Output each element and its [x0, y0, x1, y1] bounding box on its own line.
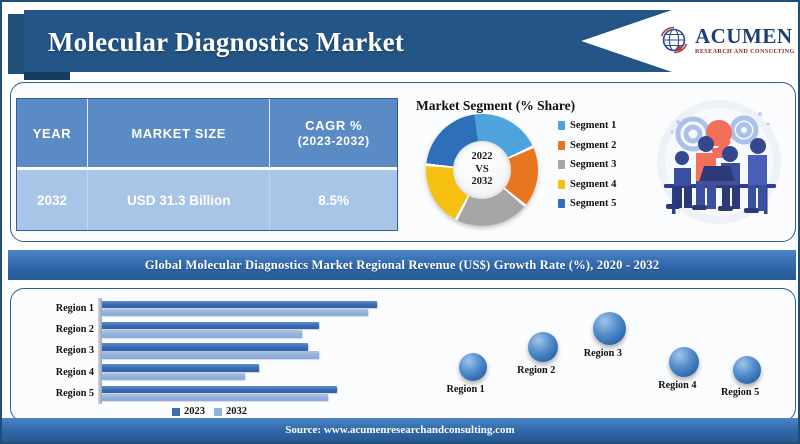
- legend-swatch-icon: [558, 160, 565, 169]
- bar-legend-item-2023: 2023: [172, 406, 205, 417]
- page-title: Molecular Diagnostics Market: [48, 20, 628, 64]
- bubble-region-3: [593, 312, 626, 345]
- cell-cagr: 8.5%: [270, 170, 397, 230]
- logo-tagline: RESEARCH AND CONSULTING: [695, 49, 795, 55]
- bar-2023-region-3: [102, 343, 308, 350]
- bar-legend-swatch-icon: [172, 408, 180, 416]
- legend-item-5: Segment 5: [558, 198, 650, 209]
- bar-row: Region 2: [22, 319, 394, 340]
- donut-year-to: 2032: [472, 176, 493, 189]
- bar-category-label: Region 2: [22, 319, 94, 340]
- bar-legend-swatch-icon: [214, 408, 222, 416]
- bar-row: Region 3: [22, 340, 394, 361]
- team-collaboration-illustration: [648, 92, 790, 234]
- market-summary-table: YEAR MARKET SIZE CAGR % (2023-2032) 2032…: [16, 98, 398, 231]
- legend-item-label: Segment 2: [570, 140, 616, 151]
- logo-name: ACUMEN: [695, 26, 795, 47]
- cagr-period: (2023-2032): [271, 134, 396, 148]
- legend-swatch-icon: [558, 199, 565, 208]
- bubble-region-5: [733, 356, 761, 384]
- bubble-region-2: [528, 332, 558, 362]
- bar-category-label: Region 1: [22, 298, 94, 319]
- table-row: 2032 USD 31.3 Billion 8.5%: [17, 170, 397, 230]
- footer-source: Source: www.acumenresearchandconsulting.…: [2, 418, 798, 442]
- donut-year-from: 2022: [472, 151, 493, 164]
- bubble-region-4: [669, 347, 699, 377]
- bubble-label: Region 1: [447, 384, 485, 395]
- legend-item-2: Segment 2: [558, 140, 650, 151]
- bar-2032-region-2: [102, 330, 302, 337]
- bar-chart-legend: 20232032: [172, 406, 247, 417]
- legend-item-label: Segment 5: [570, 198, 616, 209]
- legend-item-label: Segment 3: [570, 159, 616, 170]
- bar-2023-region-5: [102, 386, 337, 393]
- segment-legend: Segment 1Segment 2Segment 3Segment 4Segm…: [558, 120, 650, 209]
- legend-item-1: Segment 1: [558, 120, 650, 131]
- cell-year: 2032: [17, 170, 88, 230]
- table-header-row: YEAR MARKET SIZE CAGR % (2023-2032): [17, 99, 397, 170]
- legend-item-4: Segment 4: [558, 179, 650, 190]
- regional-bar-chart: Region 1Region 2Region 3Region 4Region 5…: [22, 294, 394, 414]
- donut-center-label: 2022 VS 2032: [453, 141, 511, 199]
- bar-row: Region 5: [22, 383, 394, 404]
- legend-swatch-icon: [558, 121, 565, 130]
- legend-swatch-icon: [558, 141, 565, 150]
- bar-2032-region-5: [102, 394, 328, 401]
- bar-2023-region-2: [102, 322, 319, 329]
- donut-vs: VS: [475, 164, 488, 177]
- legend-item-label: Segment 1: [570, 120, 616, 131]
- bar-2023-region-4: [102, 364, 259, 371]
- acumen-logo: ACUMEN RESEARCH AND CONSULTING: [657, 16, 795, 66]
- infographic-page: Molecular Diagnostics Market ACUMEN RESE…: [0, 0, 800, 444]
- bar-2032-region-4: [102, 373, 245, 380]
- globe-icon: [657, 24, 691, 58]
- bar-legend-label: 2032: [226, 406, 247, 417]
- bar-2023-region-1: [102, 301, 377, 308]
- bar-2032-region-1: [102, 309, 368, 316]
- column-header-year: YEAR: [17, 99, 88, 170]
- cagr-label: CAGR %: [305, 118, 362, 133]
- bubble-label: Region 2: [517, 365, 555, 376]
- legend-swatch-icon: [558, 180, 565, 189]
- bar-row: Region 1: [22, 298, 394, 319]
- section-banner: Global Molecular Diagnostics Market Regi…: [8, 250, 796, 280]
- regional-bubble-chart: Region 1Region 2Region 3Region 4Region 5: [402, 290, 794, 418]
- bubble-label: Region 4: [658, 380, 696, 391]
- bar-category-label: Region 4: [22, 362, 94, 383]
- bar-category-label: Region 5: [22, 383, 94, 404]
- bar-rows-container: Region 1Region 2Region 3Region 4Region 5: [22, 298, 394, 404]
- legend-item-3: Segment 3: [558, 159, 650, 170]
- bubble-label: Region 5: [721, 387, 759, 398]
- legend-item-label: Segment 4: [570, 179, 616, 190]
- bubble-label: Region 3: [584, 348, 622, 359]
- segment-chart-title: Market Segment (% Share): [416, 98, 575, 114]
- bubble-region-1: [459, 353, 487, 381]
- cell-market-size: USD 31.3 Billion: [88, 170, 270, 230]
- bar-legend-label: 2023: [184, 406, 205, 417]
- segment-donut-chart: 2022 VS 2032: [426, 114, 538, 226]
- logo-text-block: ACUMEN RESEARCH AND CONSULTING: [695, 26, 795, 55]
- column-header-cagr: CAGR % (2023-2032): [270, 99, 397, 170]
- bar-legend-item-2032: 2032: [214, 406, 247, 417]
- bar-row: Region 4: [22, 362, 394, 383]
- bar-category-label: Region 3: [22, 340, 94, 361]
- column-header-market-size: MARKET SIZE: [88, 99, 270, 170]
- bar-2032-region-3: [102, 351, 319, 358]
